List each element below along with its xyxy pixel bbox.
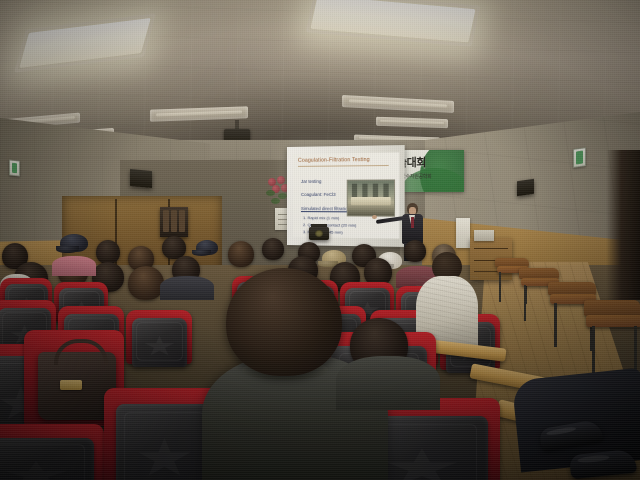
slide-bullet-1: 1. Rapid mix (1 min) xyxy=(303,215,339,220)
audience-clothing xyxy=(52,256,96,276)
audience-clothing xyxy=(160,276,214,300)
audience-clothing xyxy=(336,356,440,410)
audience-head xyxy=(228,241,254,267)
slide-photo-jar-test xyxy=(347,179,395,216)
slide-line-3: Simulated direct filtration xyxy=(301,206,350,211)
foreground-person-head xyxy=(226,268,342,376)
window-curtain xyxy=(606,150,640,300)
lecture-hall-photo: 술대회 한국수자원공학회 Coagulation-Filtration Test… xyxy=(0,0,640,480)
presentation-slide: Coagulation-Filtration Testing Jar testi… xyxy=(293,152,399,238)
video-camera-icon xyxy=(309,227,329,240)
presenter-tie xyxy=(411,217,414,228)
audience-head xyxy=(128,266,164,300)
slide-title: Coagulation-Filtration Testing xyxy=(298,157,370,164)
slide-title-rule xyxy=(298,165,389,167)
theatre-seat[interactable] xyxy=(0,424,104,480)
exit-sign-icon-left xyxy=(9,159,20,176)
front-equipment xyxy=(160,207,188,237)
slide-line-2: Coagulant: FeCl3 xyxy=(301,192,336,197)
speaker-icon-left xyxy=(130,169,152,188)
front-panel xyxy=(456,218,470,248)
slide-line-1: Jar testing xyxy=(301,179,321,184)
audience-cap-navy xyxy=(60,234,88,252)
exit-sign-icon-right xyxy=(573,147,586,168)
theatre-seat[interactable] xyxy=(126,310,192,364)
cabinet-top-box xyxy=(474,230,494,241)
handbag-clasp xyxy=(60,380,82,390)
projection-screen: Coagulation-Filtration Testing Jar testi… xyxy=(287,145,405,247)
audience-head xyxy=(262,238,284,260)
standing-person-legs xyxy=(490,362,640,480)
banner-swoosh-2 xyxy=(400,168,464,192)
audience-head xyxy=(96,240,120,264)
speaker-icon-right xyxy=(517,179,534,196)
audience-cap-dark xyxy=(196,240,218,255)
